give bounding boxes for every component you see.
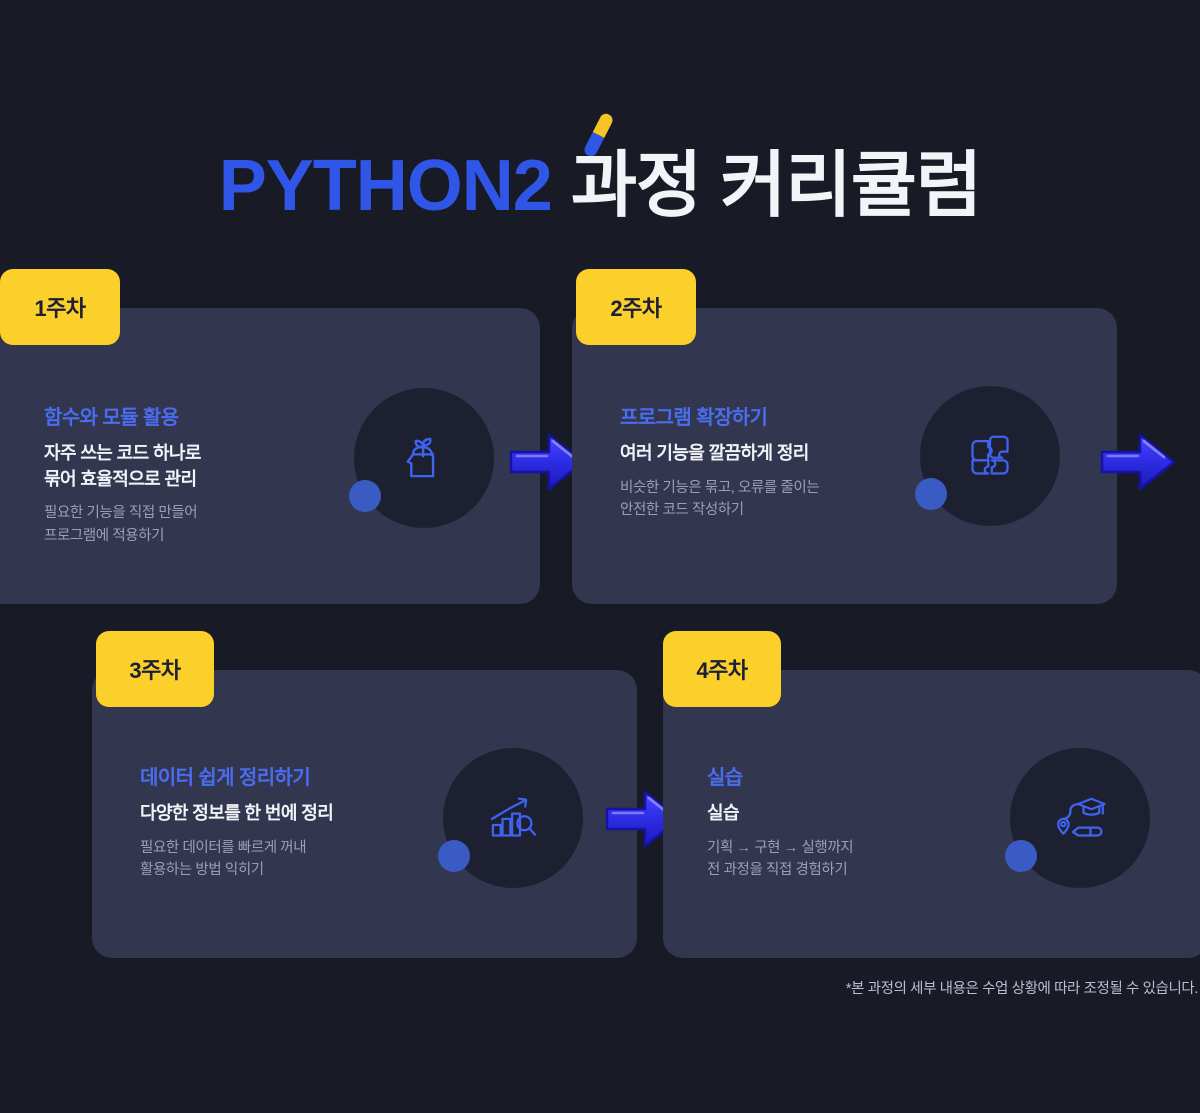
card-2-icon-circle (920, 386, 1060, 526)
curriculum-infographic: PYTHON2 과정 커리큘럼 1주차 함수와 모듈 활용 자주 쓰는 코드 하… (0, 0, 1200, 1113)
card-2-lead: 여러 기능을 깔끔하게 정리 (620, 441, 940, 467)
card-1-icon-circle (354, 388, 494, 528)
card-1-lead: 자주 쓰는 코드 하나로 묶어 효율적으로 관리 (44, 441, 344, 492)
week-card-3[interactable]: 3주차 데이터 쉽게 정리하기 다양한 정보를 한 번에 정리 필요한 데이터를… (92, 670, 637, 958)
card-4-sub: 기획 → 구현 → 실행까지 전 과정을 직접 경험하기 (707, 837, 1037, 882)
card-3-title: 데이터 쉽게 정리하기 (140, 766, 470, 790)
card-2-text-block: 프로그램 확장하기 여러 기능을 깔끔하게 정리 비슷한 기능은 묶고, 오류를… (620, 406, 940, 521)
card-1-accent-dot (349, 480, 381, 512)
chart-search-icon (485, 790, 541, 846)
card-4-text-block: 실습 실습 기획 → 구현 → 실행까지 전 과정을 직접 경험하기 (707, 766, 1037, 881)
card-3-text-block: 데이터 쉽게 정리하기 다양한 정보를 한 번에 정리 필요한 데이터를 빠르게… (140, 766, 470, 881)
sprout-head-icon (395, 429, 453, 487)
card-4-accent-dot (1005, 840, 1037, 872)
week-card-1[interactable]: 1주차 함수와 모듈 활용 자주 쓰는 코드 하나로 묶어 효율적으로 관리 필… (0, 308, 540, 604)
puzzle-pieces-icon (962, 428, 1018, 484)
card-3-icon-circle (443, 748, 583, 888)
page-title: PYTHON2 과정 커리큘럼 (0, 150, 1200, 222)
week-badge-4: 4주차 (663, 631, 781, 707)
title-rest-text: 과정 커리큘럼 (552, 146, 981, 226)
week-card-2[interactable]: 2주차 프로그램 확장하기 여러 기능을 깔끔하게 정리 비슷한 기능은 묶고,… (572, 308, 1117, 604)
week-badge-1: 1주차 (0, 269, 120, 345)
week-badge-2: 2주차 (576, 269, 696, 345)
card-4-title: 실습 (707, 766, 1037, 790)
title-accent-text: PYTHON2 (219, 146, 552, 226)
card-3-accent-dot (438, 840, 470, 872)
disclaimer-note: *본 과정의 세부 내용은 수업 상황에 따라 조정될 수 있습니다. (0, 977, 1200, 998)
card-3-sub: 필요한 데이터를 빠르게 꺼내 활용하는 방법 익히기 (140, 837, 470, 882)
graduation-cap-icon (1052, 790, 1108, 846)
card-1-title: 함수와 모듈 활용 (44, 406, 344, 430)
card-2-title: 프로그램 확장하기 (620, 406, 940, 430)
card-2-accent-dot (915, 478, 947, 510)
week-badge-3: 3주차 (96, 631, 214, 707)
card-1-sub: 필요한 기능을 직접 만들어 프로그램에 적용하기 (44, 502, 344, 547)
card-3-lead: 다양한 정보를 한 번에 정리 (140, 801, 470, 827)
arrow-card2-to-next (1096, 425, 1178, 499)
card-2-sub: 비슷한 기능은 묶고, 오류를 줄이는 안전한 코드 작성하기 (620, 477, 940, 522)
card-4-icon-circle (1010, 748, 1150, 888)
week-card-4[interactable]: 4주차 실습 실습 기획 → 구현 → 실행까지 전 과정을 직접 경험하기 (663, 670, 1200, 958)
card-1-text-block: 함수와 모듈 활용 자주 쓰는 코드 하나로 묶어 효율적으로 관리 필요한 기… (44, 406, 344, 547)
card-4-lead: 실습 (707, 801, 1037, 827)
